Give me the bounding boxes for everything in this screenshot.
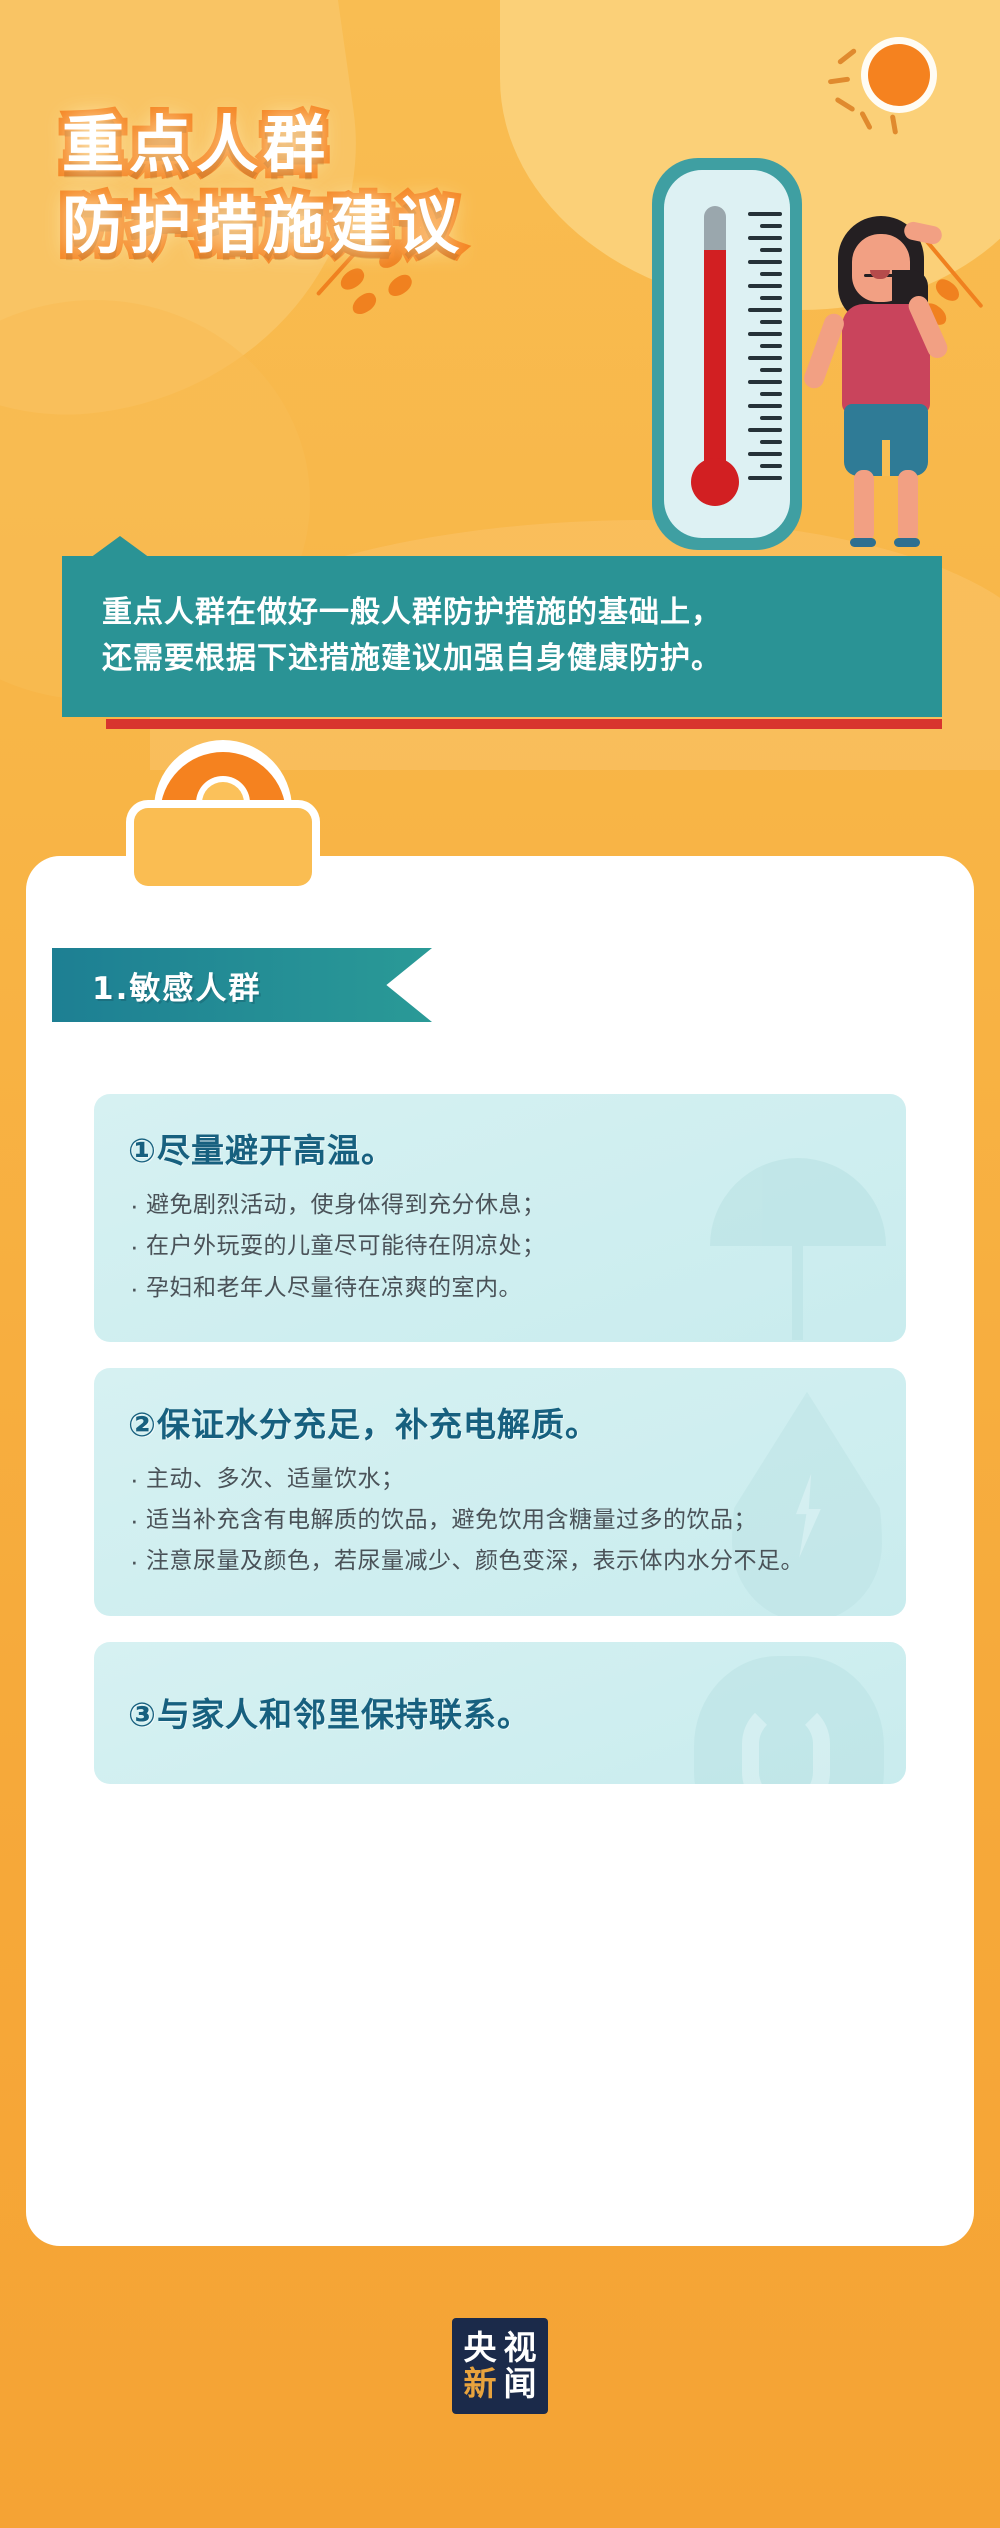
figure-sandal-right bbox=[894, 538, 920, 547]
intro-banner: 重点人群在做好一般人群防护措施的基础上， 还需要根据下述措施建议加强自身健康防护… bbox=[62, 556, 942, 717]
intro-banner-body: 重点人群在做好一般人群防护措施的基础上， 还需要根据下述措施建议加强自身健康防护… bbox=[62, 556, 942, 717]
list-item: 主动、多次、适量饮水； bbox=[128, 1460, 872, 1497]
title-line-2: 防护措施建议 bbox=[62, 189, 464, 262]
section-ribbon-label: 1.敏感人群 bbox=[52, 963, 261, 1008]
advice-card: ②保证水分充足，补充电解质。 主动、多次、适量饮水； 适当补充含有电解质的饮品，… bbox=[94, 1368, 906, 1616]
list-item: 在户外玩耍的儿童尽可能待在阴凉处； bbox=[128, 1227, 872, 1264]
intro-banner-line-2: 还需要根据下述措施建议加强自身健康防护。 bbox=[102, 636, 902, 682]
logo-char-4: 闻 bbox=[500, 2366, 540, 2402]
clipboard-clip-icon bbox=[108, 752, 338, 892]
advice-card-heading: ③与家人和邻里保持联系。 bbox=[128, 1688, 872, 1736]
page-title: 重点人群 防护措施建议 bbox=[62, 108, 464, 262]
advice-card-bullets: 避免剧烈活动，使身体得到充分休息； 在户外玩耍的儿童尽可能待在阴凉处； 孕妇和老… bbox=[128, 1186, 872, 1306]
intro-banner-line-1: 重点人群在做好一般人群防护措施的基础上， bbox=[102, 590, 902, 636]
thermometer-bulb bbox=[691, 458, 739, 506]
thermometer-face bbox=[664, 170, 790, 538]
banner-red-underline bbox=[106, 719, 942, 729]
sun-ray bbox=[890, 114, 898, 135]
sun-disc bbox=[868, 44, 930, 106]
figure-arm-left bbox=[801, 311, 846, 391]
thermometer-illustration bbox=[638, 150, 978, 560]
advice-card-heading: ①尽量避开高温。 bbox=[128, 1124, 872, 1172]
title-line-1: 重点人群 bbox=[62, 108, 464, 181]
advice-card-bullets: 主动、多次、适量饮水； 适当补充含有电解质的饮品，避免饮用含糖量过多的饮品； 注… bbox=[128, 1460, 872, 1580]
thermometer-mercury bbox=[704, 250, 726, 490]
thermometer-scale bbox=[738, 212, 782, 492]
advice-card: ③与家人和邻里保持联系。 bbox=[94, 1642, 906, 1784]
sprig-leaf bbox=[384, 272, 415, 300]
sprig-leaf bbox=[349, 290, 380, 318]
sun-ray bbox=[837, 48, 857, 65]
list-item: 注意尿量及颜色，若尿量减少、颜色变深，表示体内水分不足。 bbox=[128, 1542, 872, 1579]
logo-char-1: 央 bbox=[460, 2330, 500, 2366]
sun-ray bbox=[828, 76, 850, 84]
cctv-news-logo: 央 视 新 闻 bbox=[452, 2318, 548, 2414]
clip-body bbox=[134, 808, 312, 886]
logo-char-3: 新 bbox=[460, 2366, 500, 2402]
figure-leg-left bbox=[854, 470, 874, 542]
list-item: 孕妇和老年人尽量待在凉爽的室内。 bbox=[128, 1269, 872, 1306]
banner-notch bbox=[90, 536, 150, 558]
sun-ray bbox=[834, 97, 855, 113]
thermometer-icon bbox=[652, 158, 802, 550]
advice-card-heading: ②保证水分充足，补充电解质。 bbox=[128, 1398, 872, 1446]
figure-leg-right bbox=[898, 470, 918, 542]
section-ribbon: 1.敏感人群 bbox=[52, 948, 432, 1022]
list-item: 适当补充含有电解质的饮品，避免饮用含糖量过多的饮品； bbox=[128, 1501, 872, 1538]
sun-icon bbox=[792, 22, 952, 132]
list-item: 避免剧烈活动，使身体得到充分休息； bbox=[128, 1186, 872, 1223]
advice-card: ①尽量避开高温。 避免剧烈活动，使身体得到充分休息； 在户外玩耍的儿童尽可能待在… bbox=[94, 1094, 906, 1342]
sun-ray bbox=[859, 110, 873, 130]
advice-card-list: ①尽量避开高温。 避免剧烈活动，使身体得到充分休息； 在户外玩耍的儿童尽可能待在… bbox=[94, 1094, 906, 1810]
overheated-woman-figure bbox=[806, 208, 966, 538]
logo-char-2: 视 bbox=[500, 2330, 540, 2366]
figure-shorts bbox=[844, 404, 928, 476]
figure-sandal-left bbox=[850, 538, 876, 547]
